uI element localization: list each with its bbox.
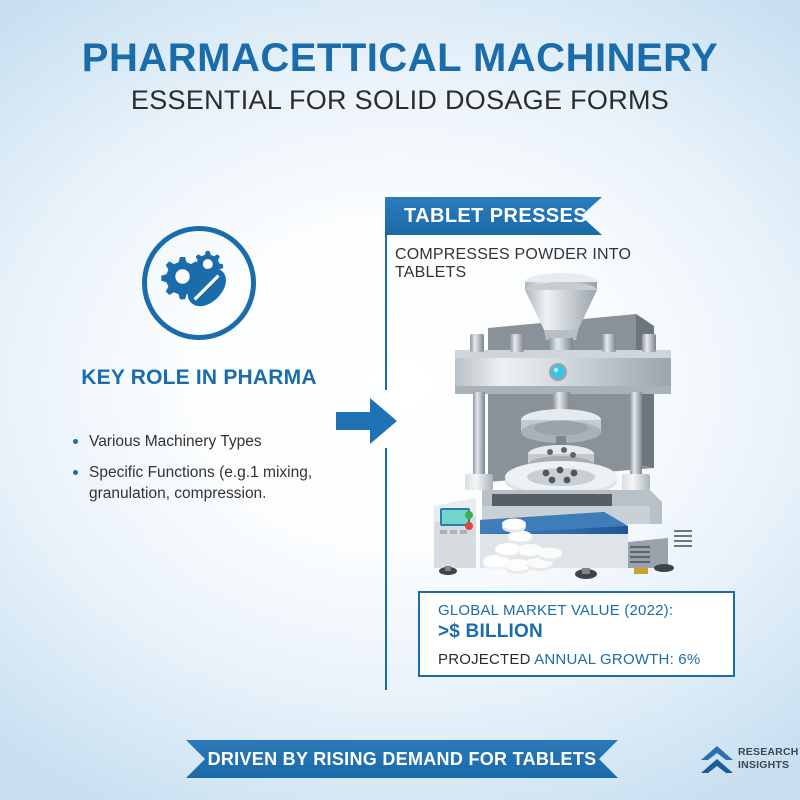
- gears-and-pill-icon: [142, 226, 256, 340]
- tablet-press-illustration: [418, 268, 718, 580]
- bottom-banner: DRIVEN BY RISING DEMAND FOR TABLETS: [186, 740, 618, 778]
- logo-wordmark: RESEARCH INSIGHTS: [738, 746, 799, 773]
- right-arrow-icon: [336, 396, 398, 451]
- list-item: Specific Functions (e.g.1 mixing, granul…: [72, 463, 332, 504]
- right-arrow-glyph: [336, 396, 398, 446]
- page-subtitle: ESSENTIAL FOR SOLID DOSAGE FORMS: [0, 85, 800, 116]
- logo-line-1: RESEARCH: [738, 746, 799, 759]
- bottom-banner-label: DRIVEN BY RISING DEMAND FOR TABLETS: [186, 740, 618, 770]
- tablet-presses-ribbon: TABLET PRESSES: [385, 197, 602, 235]
- stat-label-market-value: GLOBAL MARKET VALUE (2022):: [438, 602, 673, 619]
- gears-and-pill-glyph: [147, 231, 251, 335]
- ribbon-label: TABLET PRESSES: [385, 197, 602, 228]
- panel-rail-bottom: [385, 448, 387, 690]
- infographic-canvas: PHARMACETTICAL MACHINERY ESSENTIAL FOR S…: [0, 0, 800, 800]
- stat-growth-prefix: PROJECTED: [438, 651, 534, 668]
- key-role-heading: KEY ROLE IN PHARMA: [24, 366, 374, 390]
- logo-line-2: INSIGHTS: [738, 759, 799, 772]
- market-stats-box: GLOBAL MARKET VALUE (2022): >$ BILLION P…: [418, 591, 735, 677]
- stat-growth-value: ANNUAL GROWTH: 6%: [534, 651, 700, 668]
- stat-value-market-value: >$ BILLION: [438, 621, 543, 643]
- list-item: Various Machinery Types: [72, 432, 332, 452]
- double-chevron-up-glyph: [700, 744, 736, 778]
- tablet-press-machine: [418, 268, 718, 585]
- stat-growth-line: PROJECTED ANNUAL GROWTH: 6%: [438, 651, 700, 668]
- panel-rail-top: [385, 212, 387, 390]
- key-role-bullet-list: Various Machinery Types Specific Functio…: [72, 432, 332, 515]
- page-title: PHARMACETTICAL MACHINERY: [0, 36, 800, 81]
